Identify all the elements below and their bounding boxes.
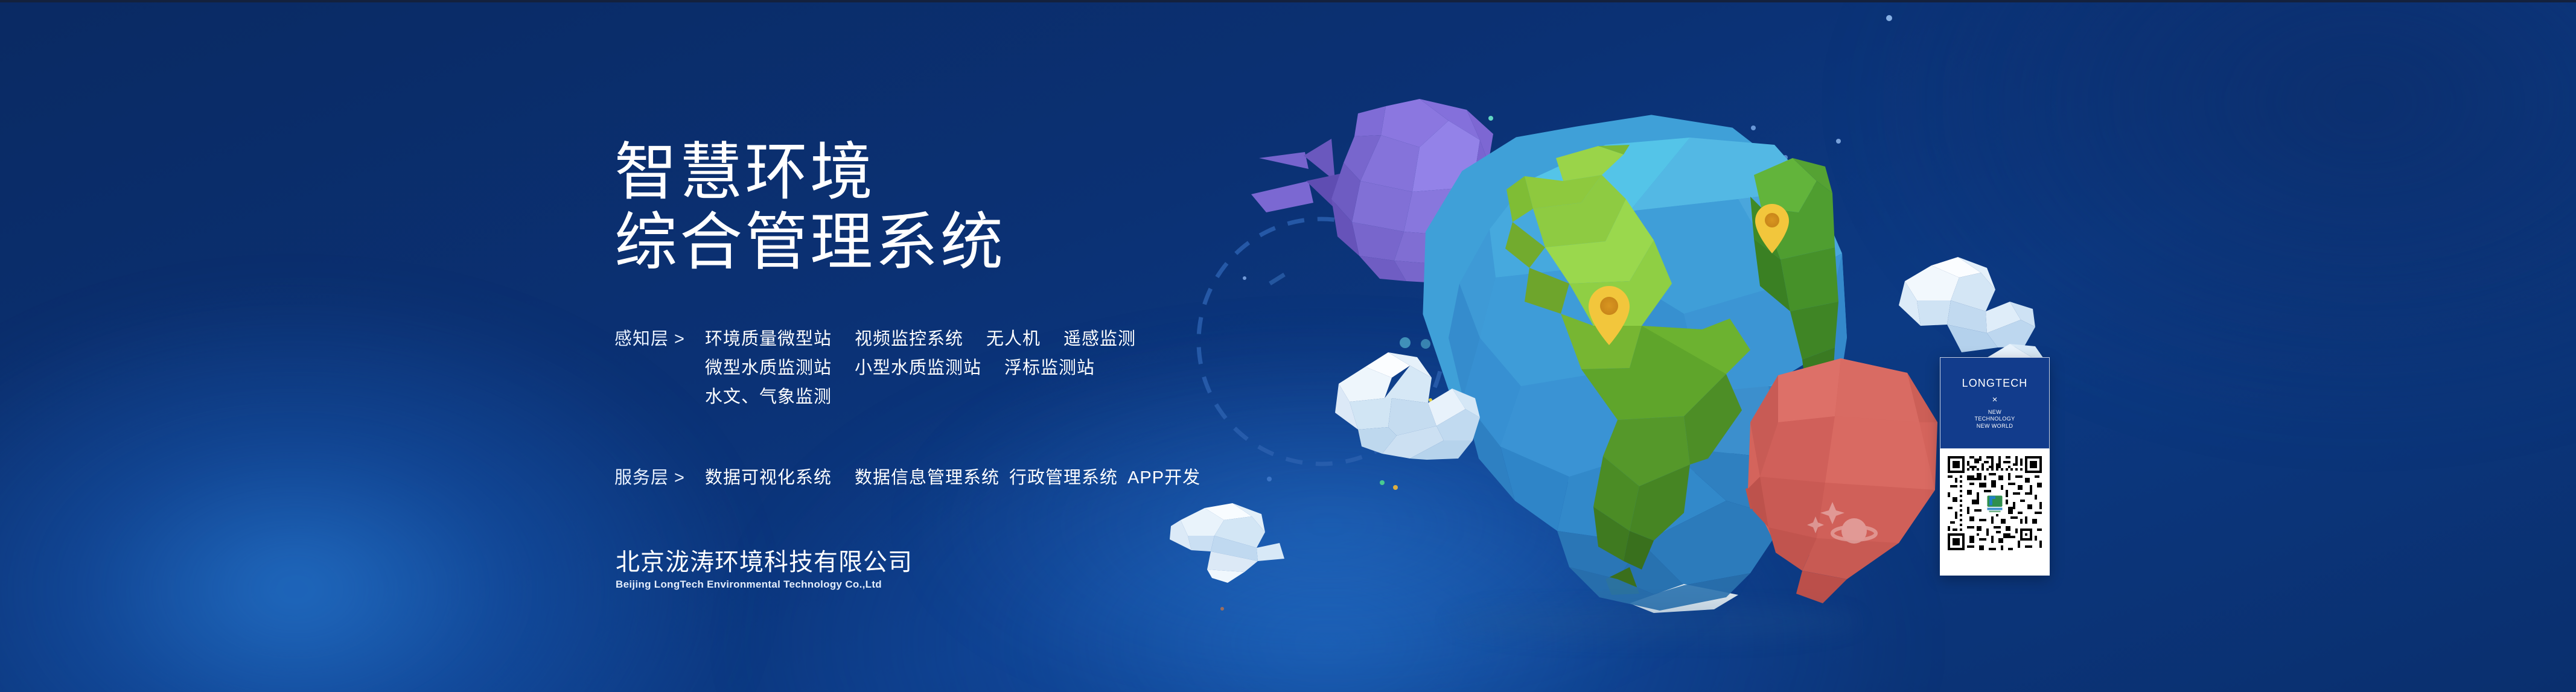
- hero-title-line-2: 综合管理系统: [614, 208, 1218, 278]
- layer-label-service: 服务层 >: [614, 463, 705, 492]
- layer-items-service: 数据可视化系统 数据信息管理系统 行政管理系统 APP开发: [705, 463, 1210, 492]
- company-name-cn: 北京泷涛环境科技有限公司: [616, 548, 913, 577]
- qr-separator-icon: ×: [1992, 394, 1998, 406]
- qr-tagline-line-2: TECHNOLOGY: [1974, 416, 2015, 423]
- layer-item[interactable]: 数据可视化系统: [705, 463, 832, 492]
- qr-tagline: NEW TECHNOLOGY NEW WORLD: [1974, 409, 2015, 430]
- layer-items-perception: 环境质量微型站 视频监控系统 无人机 遥感监测 微型水质监测站 小型水质监测站 …: [705, 325, 1159, 411]
- layer-item[interactable]: 微型水质监测站: [705, 354, 832, 383]
- layer-item[interactable]: 行政管理系统: [1009, 463, 1118, 492]
- layer-item[interactable]: 遥感监测: [1063, 325, 1136, 354]
- qr-tagline-line-3: NEW WORLD: [1974, 423, 2015, 430]
- banner-canvas: 智慧环境 综合管理系统 感知层 > 环境质量微型站 视频监控系统 无人机 遥感监…: [0, 0, 2576, 692]
- layer-item[interactable]: 水文、气象监测: [705, 383, 832, 411]
- space-illustration: [0, 0, 2576, 692]
- qr-card-header: LONGTECH × NEW TECHNOLOGY NEW WORLD: [1940, 357, 2050, 449]
- layer-item[interactable]: 环境质量微型站: [705, 325, 832, 354]
- qr-card[interactable]: LONGTECH × NEW TECHNOLOGY NEW WORLD: [1940, 357, 2050, 576]
- layer-row: 数据可视化系统 数据信息管理系统 行政管理系统 APP开发: [705, 463, 1210, 492]
- company-name-en: Beijing LongTech Environmental Technolog…: [616, 578, 913, 591]
- hero-title-line-1: 智慧环境: [614, 138, 1218, 208]
- layer-item[interactable]: 视频监控系统: [855, 325, 963, 354]
- layer-item[interactable]: 小型水质监测站: [855, 354, 981, 383]
- globe-ground-shadow: [1449, 601, 1859, 642]
- layer-row: 水文、气象监测: [705, 383, 1159, 411]
- layer-item[interactable]: 浮标监测站: [1004, 354, 1095, 383]
- red-planet: [1745, 358, 1937, 603]
- layer-row: 环境质量微型站 视频监控系统 无人机 遥感监测: [705, 325, 1159, 354]
- qr-brand-name: LONGTECH: [1962, 376, 2028, 390]
- hero-copy: 智慧环境 综合管理系统 感知层 > 环境质量微型站 视频监控系统 无人机 遥感监…: [614, 138, 1218, 497]
- layer-row: 微型水质监测站 小型水质监测站 浮标监测站: [705, 354, 1159, 383]
- layer-label-perception: 感知层 >: [614, 325, 705, 354]
- layer-list: 感知层 > 环境质量微型站 视频监控系统 无人机 遥感监测 微型水质监测站 小型…: [614, 325, 1218, 492]
- qr-center-logo: [1988, 496, 2003, 513]
- layer-item[interactable]: 无人机: [986, 325, 1041, 354]
- qr-tagline-line-1: NEW: [1974, 409, 2015, 416]
- cloud-bottom: [1170, 503, 1284, 583]
- layer-item[interactable]: APP开发: [1127, 463, 1200, 492]
- layer-group-service: 服务层 > 数据可视化系统 数据信息管理系统 行政管理系统 APP开发: [614, 463, 1218, 492]
- layer-group-perception: 感知层 > 环境质量微型站 视频监控系统 无人机 遥感监测 微型水质监测站 小型…: [614, 325, 1218, 411]
- layer-item[interactable]: 数据信息管理系统: [855, 463, 999, 492]
- company-signature: 北京泷涛环境科技有限公司 Beijing LongTech Environmen…: [616, 548, 913, 591]
- qr-code-image[interactable]: [1945, 454, 2044, 553]
